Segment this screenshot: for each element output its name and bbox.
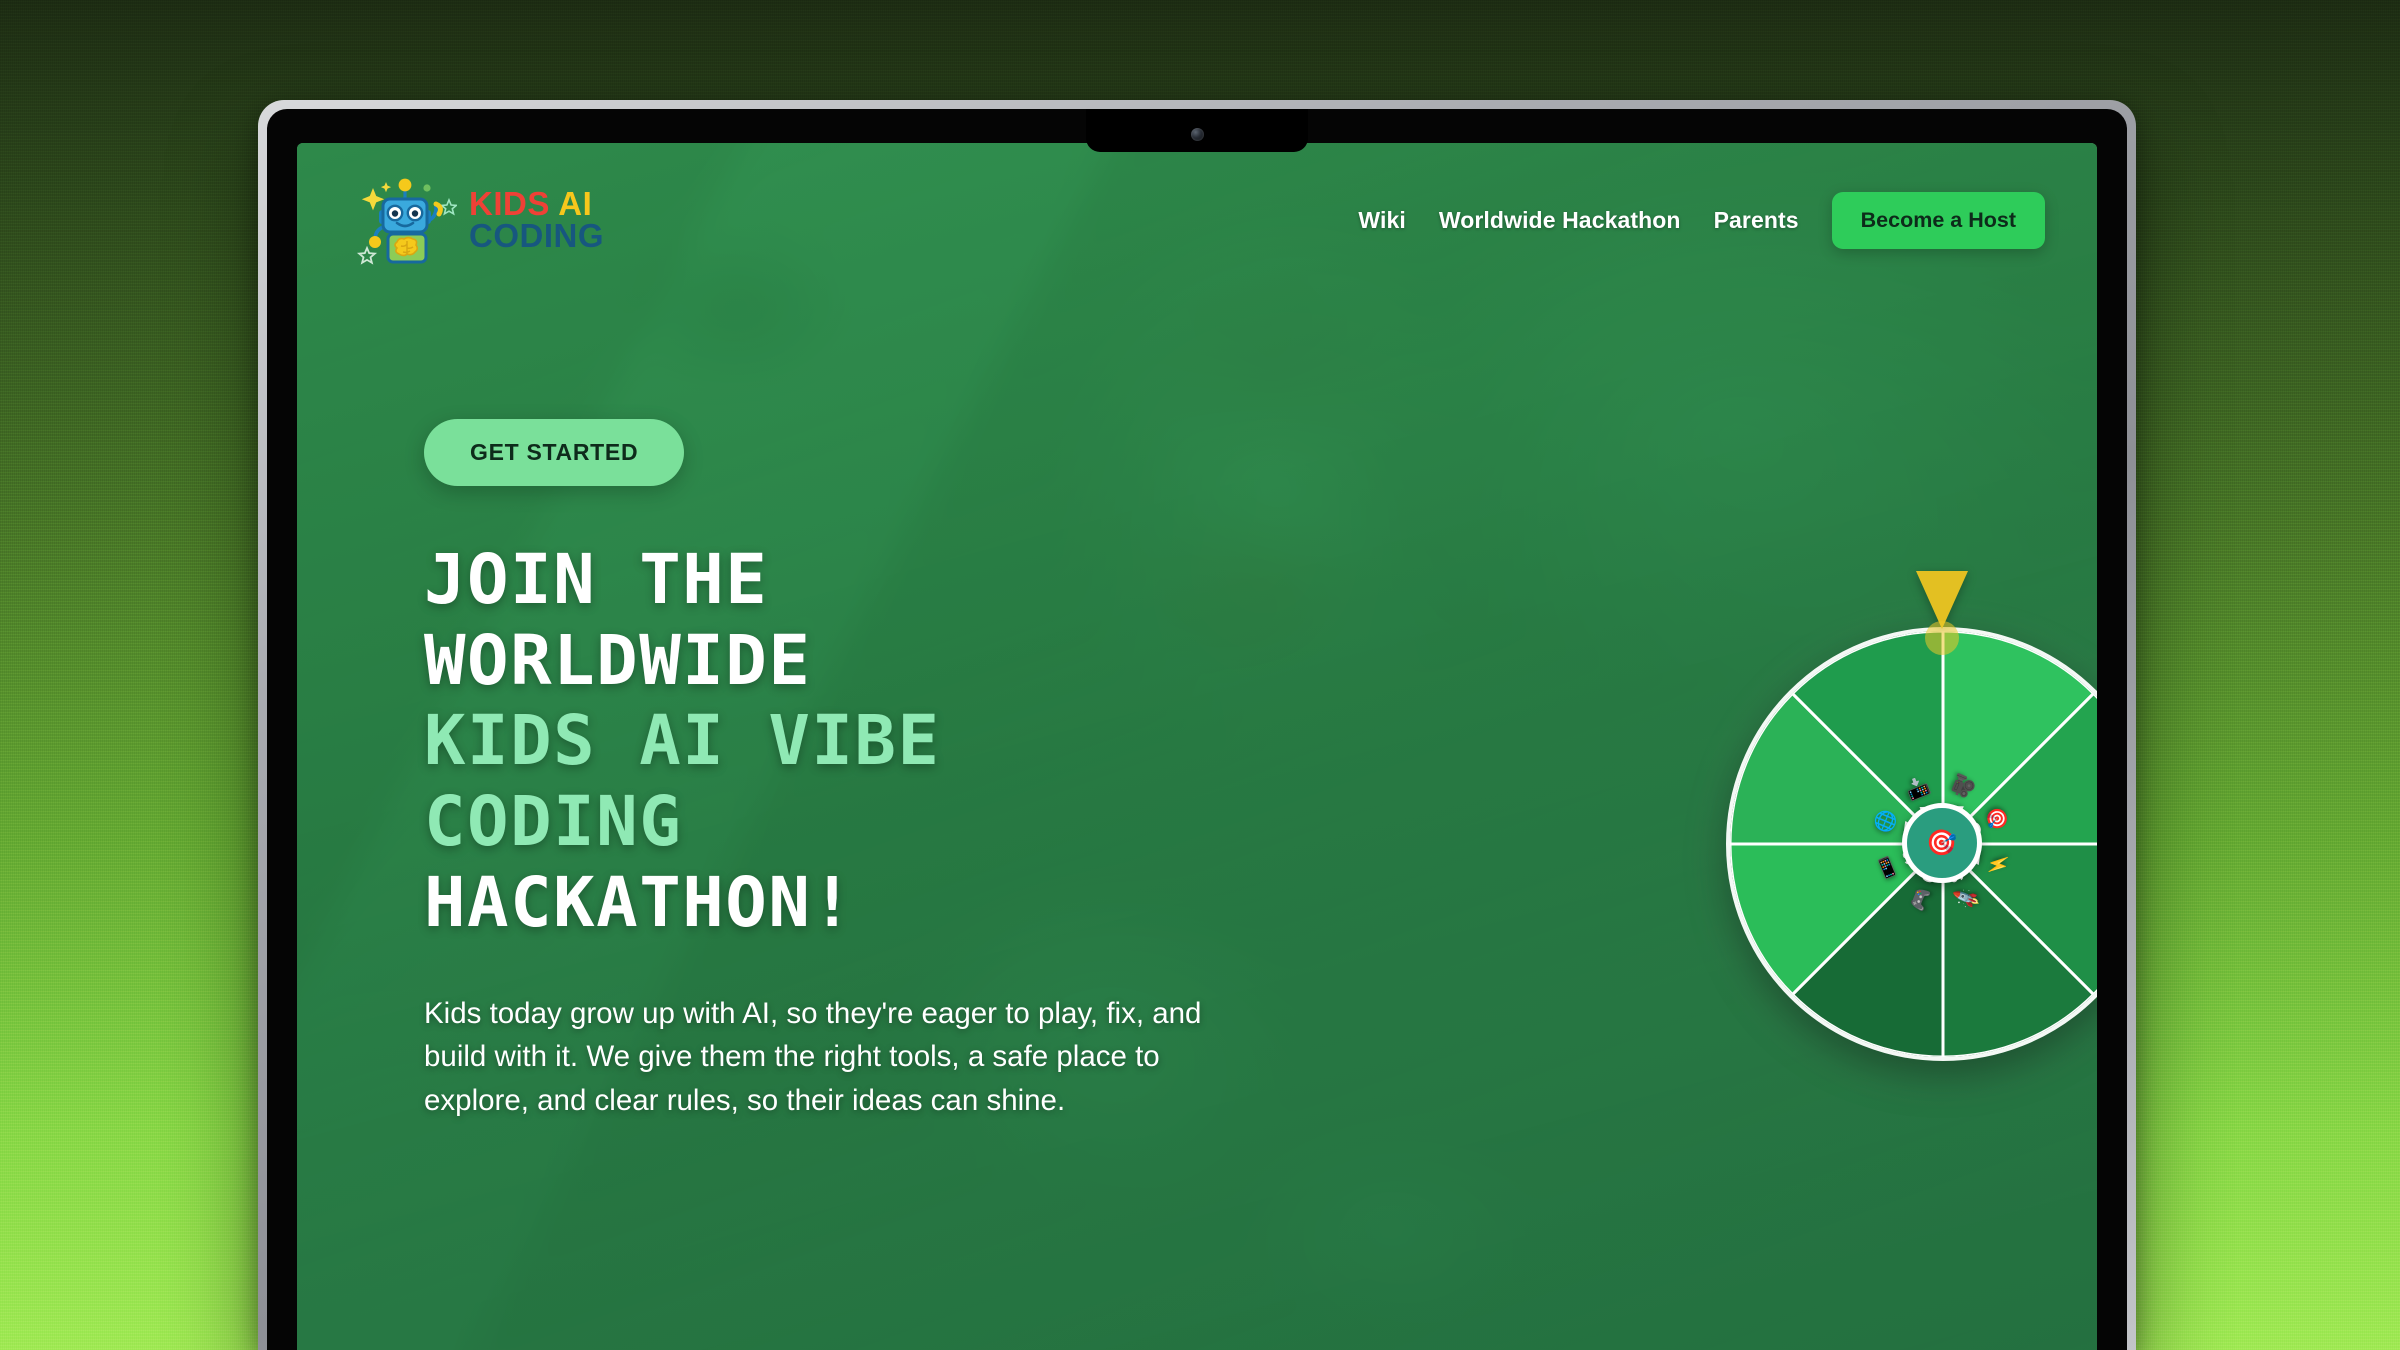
laptop-notch xyxy=(1086,109,1308,152)
headline-line-5: HACKATHON! xyxy=(424,863,1324,944)
headline-line-1: JOIN THE xyxy=(424,540,1324,621)
robot-mascot-icon xyxy=(353,168,457,272)
headline-line-4: CODING xyxy=(424,782,1324,863)
browser-viewport: KIDS AI CODING Wiki Worldwide Hackathon … xyxy=(297,143,2097,1350)
logo-coding-text: CODING xyxy=(469,220,604,252)
webcam-icon xyxy=(1191,128,1204,141)
nav-link-worldwide-hackathon[interactable]: Worldwide Hackathon xyxy=(1439,207,1681,234)
get-started-button[interactable]: GET STARTED xyxy=(424,419,684,486)
nav-link-wiki[interactable]: Wiki xyxy=(1358,207,1405,234)
laptop-bezel: KIDS AI CODING Wiki Worldwide Hackathon … xyxy=(267,109,2127,1350)
hero-headline: JOIN THE WORLDWIDE KIDS AI VIBE CODING H… xyxy=(424,540,1324,944)
main-navigation: Wiki Worldwide Hackathon Parents Become … xyxy=(1358,192,2045,249)
pointer-knob xyxy=(1925,621,1959,655)
laptop-device-frame: KIDS AI CODING Wiki Worldwide Hackathon … xyxy=(258,100,2136,1350)
hero-section: GET STARTED JOIN THE WORLDWIDE KIDS AI V… xyxy=(424,419,1324,1123)
site-logo[interactable]: KIDS AI CODING xyxy=(353,168,604,272)
hero-paragraph: Kids today grow up with AI, so they're e… xyxy=(424,992,1224,1123)
headline-line-3: KIDS AI VIBE xyxy=(424,701,1324,782)
site-header: KIDS AI CODING Wiki Worldwide Hackathon … xyxy=(297,167,2097,273)
nav-link-parents[interactable]: Parents xyxy=(1714,207,1799,234)
spinner-wheel[interactable]: 🎯 🎮Game📱Social🌐Website📲App🎥Video🎯Game⚡We… xyxy=(1692,593,2097,1093)
become-a-host-button[interactable]: Become a Host xyxy=(1832,192,2045,249)
headline-line-2: WORLDWIDE xyxy=(424,621,1324,702)
logo-wordmark: KIDS AI CODING xyxy=(469,188,604,251)
wheel-hub[interactable]: 🎯 xyxy=(1902,803,1982,883)
